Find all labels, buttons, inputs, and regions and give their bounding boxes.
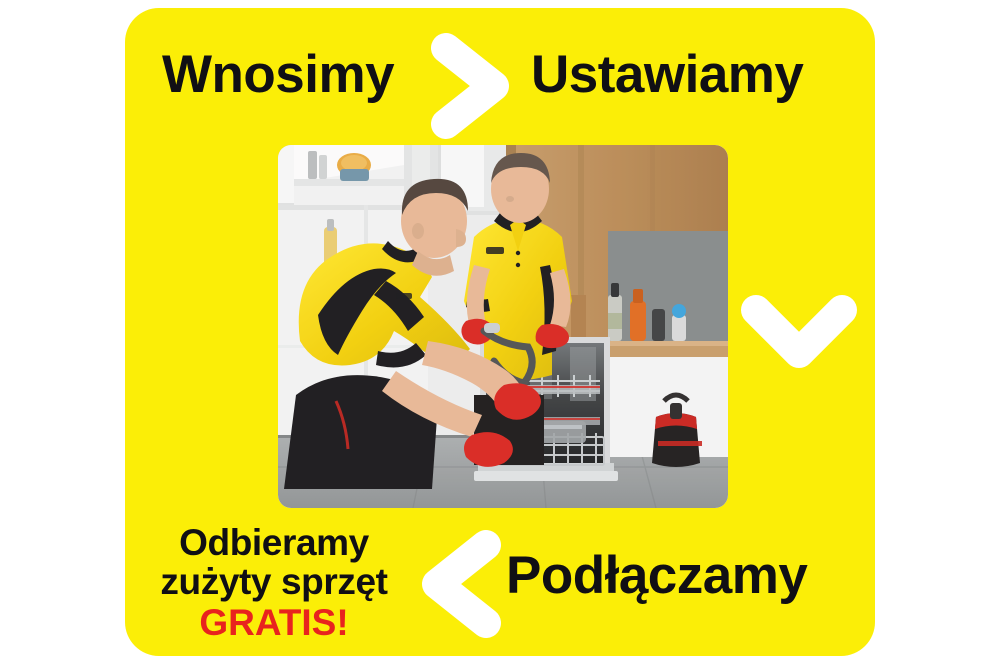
- photo-illustration: [278, 145, 728, 508]
- offer-line-1: Odbieramy: [150, 523, 398, 562]
- chevron-left-icon: [404, 524, 514, 644]
- chevron-down-icon: [736, 287, 862, 379]
- offer-block: Odbieramy zużyty sprzęt GRATIS!: [150, 523, 398, 643]
- step-label-ustawiamy: Ustawiamy: [531, 48, 803, 101]
- step-label-wnosimy: Wnosimy: [162, 48, 394, 101]
- offer-line-2: zużyty sprzęt: [150, 562, 398, 601]
- poster-canvas: Wnosimy Ustawiamy Podłączamy Odbieramy z…: [0, 0, 1000, 671]
- step-label-podlaczamy: Podłączamy: [506, 549, 807, 602]
- installation-photo: [278, 145, 728, 508]
- offer-highlight: GRATIS!: [150, 603, 398, 642]
- chevron-right-icon: [420, 28, 530, 144]
